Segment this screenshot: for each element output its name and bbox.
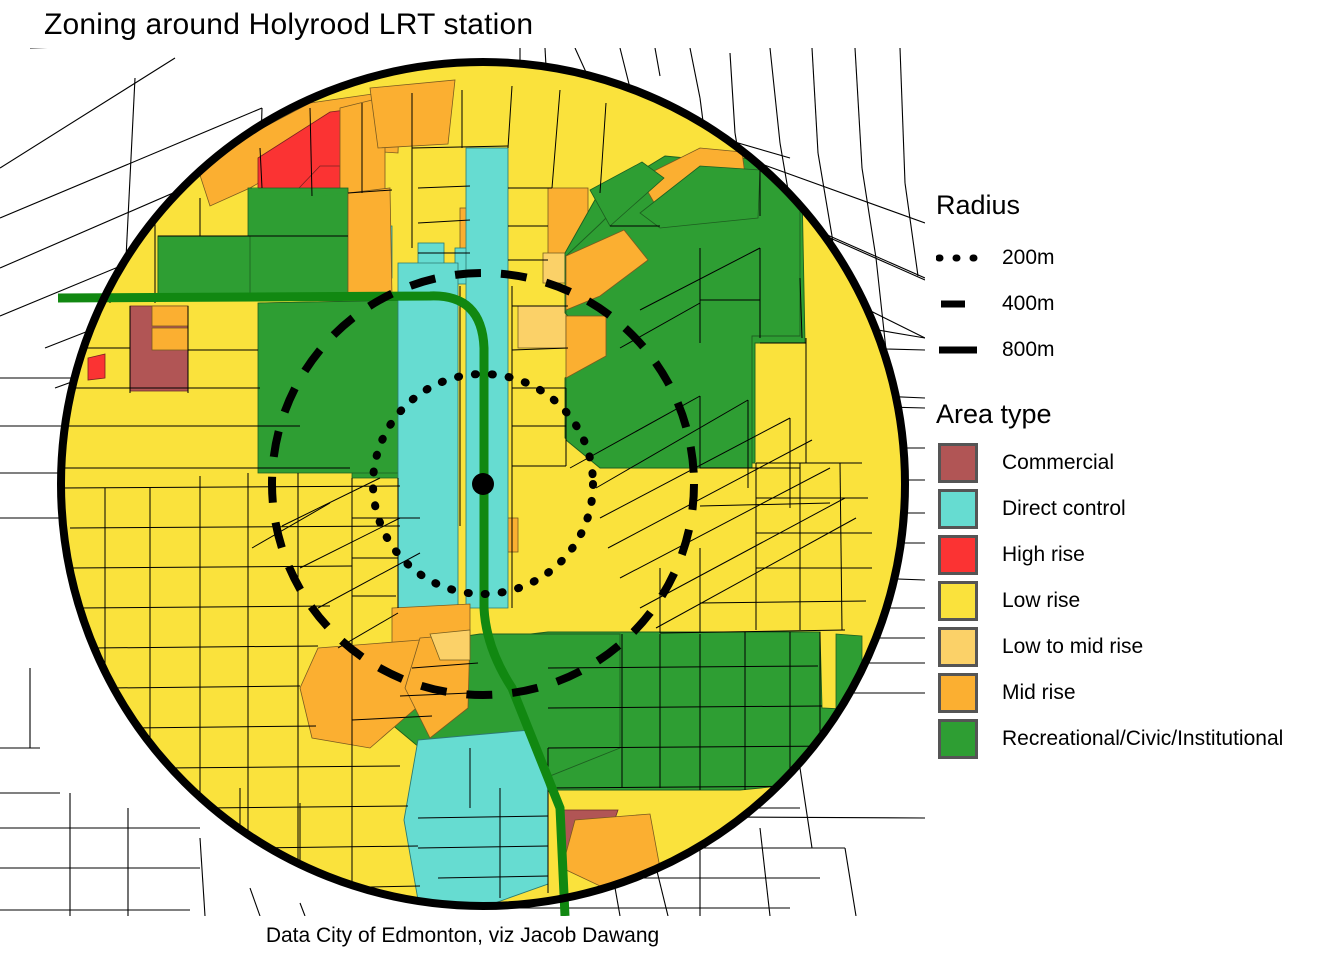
map-caption: Data City of Edmonton, viz Jacob Dawang	[0, 924, 925, 948]
legend-label-radius-200m: 200m	[1002, 246, 1055, 270]
legend-item-radius-200m[interactable]: 200m	[930, 235, 1340, 281]
legend-item-direct-control[interactable]: Direct control	[930, 486, 1340, 532]
legend-label-high-rise: High rise	[1002, 543, 1085, 567]
swatch-commercial	[936, 441, 980, 485]
legend-panel: Radius 200m 400m	[930, 190, 1340, 762]
legend-label-radius-800m: 800m	[1002, 338, 1055, 362]
legend-item-low-to-mid-rise[interactable]: Low to mid rise	[930, 624, 1340, 670]
swatch-high-rise	[936, 533, 980, 577]
legend-label-commercial: Commercial	[1002, 451, 1114, 475]
legend-label-mid-rise: Mid rise	[1002, 681, 1076, 705]
zoning-map	[0, 48, 925, 916]
legend-item-radius-400m[interactable]: 400m	[930, 281, 1340, 327]
legend-group-area-type: Area type Commercial Direct control High…	[930, 399, 1340, 762]
solid-line-icon	[936, 328, 980, 372]
legend-item-commercial[interactable]: Commercial	[930, 440, 1340, 486]
swatch-direct-control	[936, 487, 980, 531]
legend-label-radius-400m: 400m	[1002, 292, 1055, 316]
legend-item-radius-800m[interactable]: 800m	[930, 327, 1340, 373]
legend-item-mid-rise[interactable]: Mid rise	[930, 670, 1340, 716]
legend-item-high-rise[interactable]: High rise	[930, 532, 1340, 578]
swatch-mid-rise	[936, 671, 980, 715]
legend-title-radius: Radius	[936, 190, 1340, 221]
legend-label-low-to-mid-rise: Low to mid rise	[1002, 635, 1143, 659]
swatch-low-to-mid-rise	[936, 625, 980, 669]
legend-item-recreational-civic-institutional[interactable]: Recreational/Civic/Institutional	[930, 716, 1340, 762]
legend-label-low-rise: Low rise	[1002, 589, 1080, 613]
dotted-line-icon	[936, 236, 980, 280]
swatch-low-rise	[936, 579, 980, 623]
swatch-recreational-civic-institutional	[936, 717, 980, 761]
legend-item-low-rise[interactable]: Low rise	[930, 578, 1340, 624]
dashed-line-icon	[936, 282, 980, 326]
legend-title-area-type: Area type	[936, 399, 1340, 430]
legend-label-direct-control: Direct control	[1002, 497, 1126, 521]
legend-label-recreational-civic-institutional: Recreational/Civic/Institutional	[1002, 727, 1283, 751]
page-title: Zoning around Holyrood LRT station	[44, 8, 533, 42]
legend-group-radius: Radius 200m 400m	[930, 190, 1340, 373]
station-point	[472, 473, 494, 495]
